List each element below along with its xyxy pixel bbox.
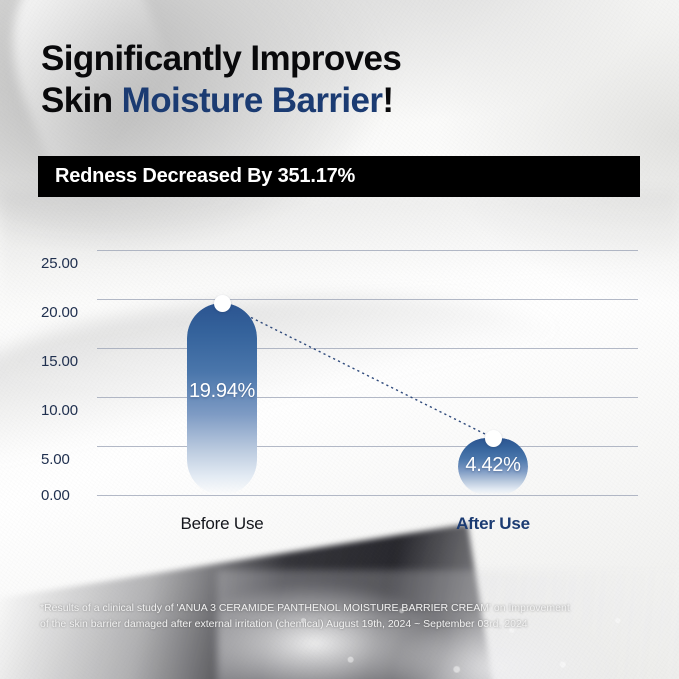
trend-connector-line	[0, 0, 679, 679]
gridline-15	[97, 348, 638, 349]
gridline-20	[97, 299, 638, 300]
ytick-label-10: 10.00	[41, 402, 97, 419]
infographic-poster: Significantly Improves Skin Moisture Bar…	[0, 0, 679, 679]
marker-dot-before-use	[214, 295, 231, 312]
ytick-label-15: 15.00	[41, 353, 97, 370]
marker-dot-after-use	[485, 430, 502, 447]
ytick-label-20: 20.00	[41, 304, 97, 321]
category-label-after-use: After Use	[423, 514, 563, 534]
footnote: *Results of a clinical study of 'ANUA 3 …	[40, 601, 640, 633]
bar-before-use-value: 19.94%	[187, 380, 257, 403]
ytick-label-0: 0.00	[41, 487, 97, 504]
bar-before-use: 19.94%	[187, 303, 257, 495]
gridline-5	[97, 446, 638, 447]
gridline-0	[97, 495, 638, 496]
bar-chart: 25.00 20.00 15.00 10.00 5.00 0.00 19.94%…	[0, 0, 679, 679]
ytick-label-25: 25.00	[41, 255, 97, 272]
footnote-line-2: of the skin barrier damaged after extern…	[40, 617, 640, 633]
category-label-before-use: Before Use	[152, 514, 292, 534]
ytick-label-5: 5.00	[41, 451, 97, 468]
gridline-25	[97, 250, 638, 251]
footnote-line-1: *Results of a clinical study of 'ANUA 3 …	[40, 601, 640, 617]
bar-after-use-value: 4.42%	[458, 454, 528, 477]
gridline-10	[97, 397, 638, 398]
